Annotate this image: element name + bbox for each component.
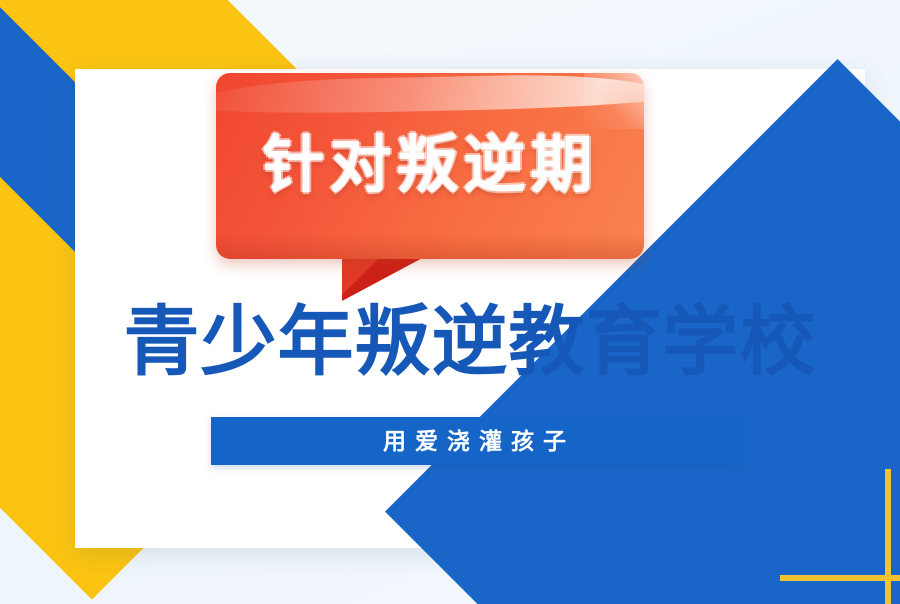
speech-bubble-badge: 针对叛逆期 — [216, 73, 644, 301]
tagline-text: 用爱浇灌孩子 — [374, 430, 575, 453]
speech-bubble-label: 针对叛逆期 — [216, 73, 644, 259]
tagline-bar: 用爱浇灌孩子 — [211, 417, 738, 465]
speech-bubble-tail-highlight — [342, 255, 382, 295]
yellow-horizontal-rule — [780, 575, 900, 581]
page-title: 青少年叛逆教育学校 — [75, 305, 865, 381]
yellow-vertical-rule — [885, 469, 891, 604]
poster-canvas: 针对叛逆期 青少年叛逆教育学校 用爱浇灌孩子 — [0, 0, 900, 604]
